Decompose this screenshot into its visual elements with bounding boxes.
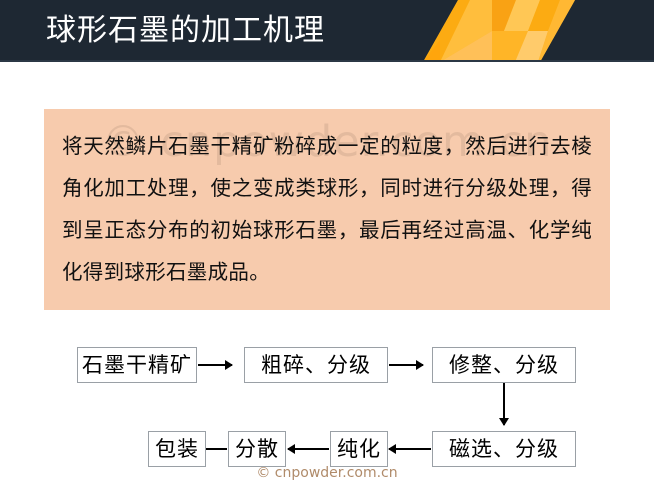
intro-text-box: 将天然鳞片石墨干精矿粉碎成一定的粒度，然后进行去棱角化加工处理，使之变成类球形，… xyxy=(44,109,610,310)
footer-watermark: © cnpowder.com.cn xyxy=(0,463,654,483)
arrow-purification-to-dispersion xyxy=(288,448,329,450)
header-bottom-edge xyxy=(0,60,654,62)
flow-node-dispersion[interactable]: 分散 xyxy=(228,431,286,467)
flow-node-graphite-dry-concentrate[interactable]: 石墨干精矿 xyxy=(77,347,197,383)
arrow-shaping-to-magnetic xyxy=(503,383,505,425)
arrow-coarse-to-shaping xyxy=(389,364,423,366)
page-title: 球形石墨的加工机理 xyxy=(46,11,325,51)
process-flowchart: 石墨干精矿 粗碎、分级 修整、分级 磁选、分级 纯化 分散 包装 xyxy=(0,335,654,465)
intro-paragraph: 将天然鳞片石墨干精矿粉碎成一定的粒度，然后进行去棱角化加工处理，使之变成类球形，… xyxy=(62,125,592,293)
flow-node-purification[interactable]: 纯化 xyxy=(330,431,388,467)
header-bar: 球形石墨的加工机理 xyxy=(0,0,654,62)
arrow-magnetic-to-purification xyxy=(389,448,431,450)
flow-node-magnetic-separation-classify[interactable]: 磁选、分级 xyxy=(432,431,576,467)
flow-node-coarse-crush-classify[interactable]: 粗碎、分级 xyxy=(244,347,388,383)
flow-node-shaping-classify[interactable]: 修整、分级 xyxy=(432,347,576,383)
arrow-concentrate-to-coarse xyxy=(198,364,232,366)
flow-node-packaging[interactable]: 包装 xyxy=(148,431,206,467)
